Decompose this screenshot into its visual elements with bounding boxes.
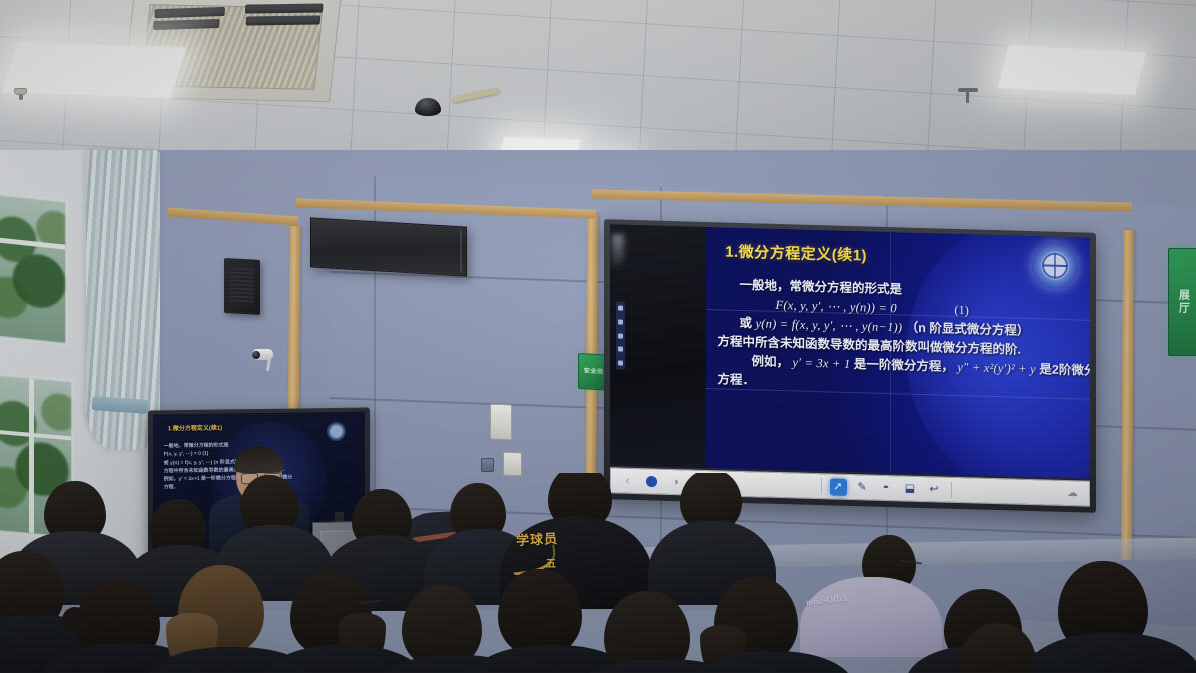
student-head (498, 569, 582, 655)
slide-equation-number: (1) (900, 302, 969, 318)
dome-security-camera (415, 98, 441, 116)
student-shoulders (1022, 633, 1196, 673)
slide-line-5-suffix: 是2阶微分 (1039, 362, 1090, 378)
slide-equation-3: y′ = 3x + 1 (793, 356, 851, 372)
wall-light-switch[interactable] (481, 458, 494, 472)
screen-glare (612, 234, 624, 268)
wall-control-panel[interactable] (490, 404, 512, 441)
classroom-window (0, 192, 68, 346)
university-seal-icon (1032, 242, 1078, 289)
bullet-security-camera (252, 349, 278, 360)
university-seal-icon (327, 422, 346, 441)
ac-vane (246, 15, 321, 25)
sprinkler-head (14, 88, 27, 95)
mirrored-slide-title: 1.微分方程定义(续1) (168, 422, 222, 432)
display-side-panel (610, 224, 706, 468)
slide-equation-1: F(x, y, y′, ⋯ , y(n)) = 0 (776, 298, 897, 315)
main-display-screen[interactable]: 1.微分方程定义(续1) 一般地，常微分方程的形式是 F(x, y, y′, ⋯… (610, 224, 1090, 478)
wall-mounted-speaker (224, 258, 260, 315)
wall-display-panel (310, 217, 467, 276)
ceiling-hanger (958, 88, 978, 92)
slide-line-5-mid: 是一阶微分方程， (854, 357, 954, 374)
wall-banner-sign: 展厅 (1168, 248, 1196, 356)
wall-banner-label: 展厅 (1177, 289, 1190, 315)
side-tool-icon[interactable] (618, 320, 623, 325)
side-quick-toolbar[interactable] (616, 302, 625, 370)
lecture-hall-photo: 安全出口 展厅 (0, 0, 1196, 673)
slide-line-3-prefix: 或 (740, 316, 753, 330)
led-panel-light (1, 41, 188, 99)
side-tool-icon[interactable] (618, 306, 623, 311)
ac-vane (245, 3, 324, 13)
side-tool-icon[interactable] (618, 347, 623, 352)
student-shoulders (800, 577, 942, 657)
camera-lens (252, 351, 260, 359)
slide-equation-2: y(n) = f(x, y, y′, ⋯ , y(n−1)) (756, 317, 903, 335)
slide-line-3-suffix: （n 阶显式微分方程） (906, 321, 1030, 338)
audience-rows: 学球员 五 noiz-Offcl (0, 473, 1196, 673)
hair-tie-bun (62, 607, 88, 633)
main-smart-display[interactable]: 1.微分方程定义(续1) 一般地，常微分方程的形式是 F(x, y, y′, ⋯… (604, 219, 1096, 513)
slide-title: 1.微分方程定义(续1) (725, 241, 867, 266)
side-tool-icon[interactable] (618, 360, 623, 365)
presentation-slide: 1.微分方程定义(续1) 一般地，常微分方程的形式是 F(x, y, y′, ⋯… (706, 227, 1090, 479)
side-tool-icon[interactable] (618, 333, 623, 338)
slide-equation-4: y″ + x²(y′)² + y (957, 360, 1036, 376)
lecturer-hair (234, 445, 284, 473)
slide-body: 一般地，常微分方程的形式是 F(x, y, y′, ⋯ , y(n)) = 0 … (718, 275, 1079, 399)
led-panel-light (997, 44, 1147, 95)
window-view-trees (0, 195, 65, 342)
slide-line-5-prefix: 例如， (752, 354, 790, 369)
